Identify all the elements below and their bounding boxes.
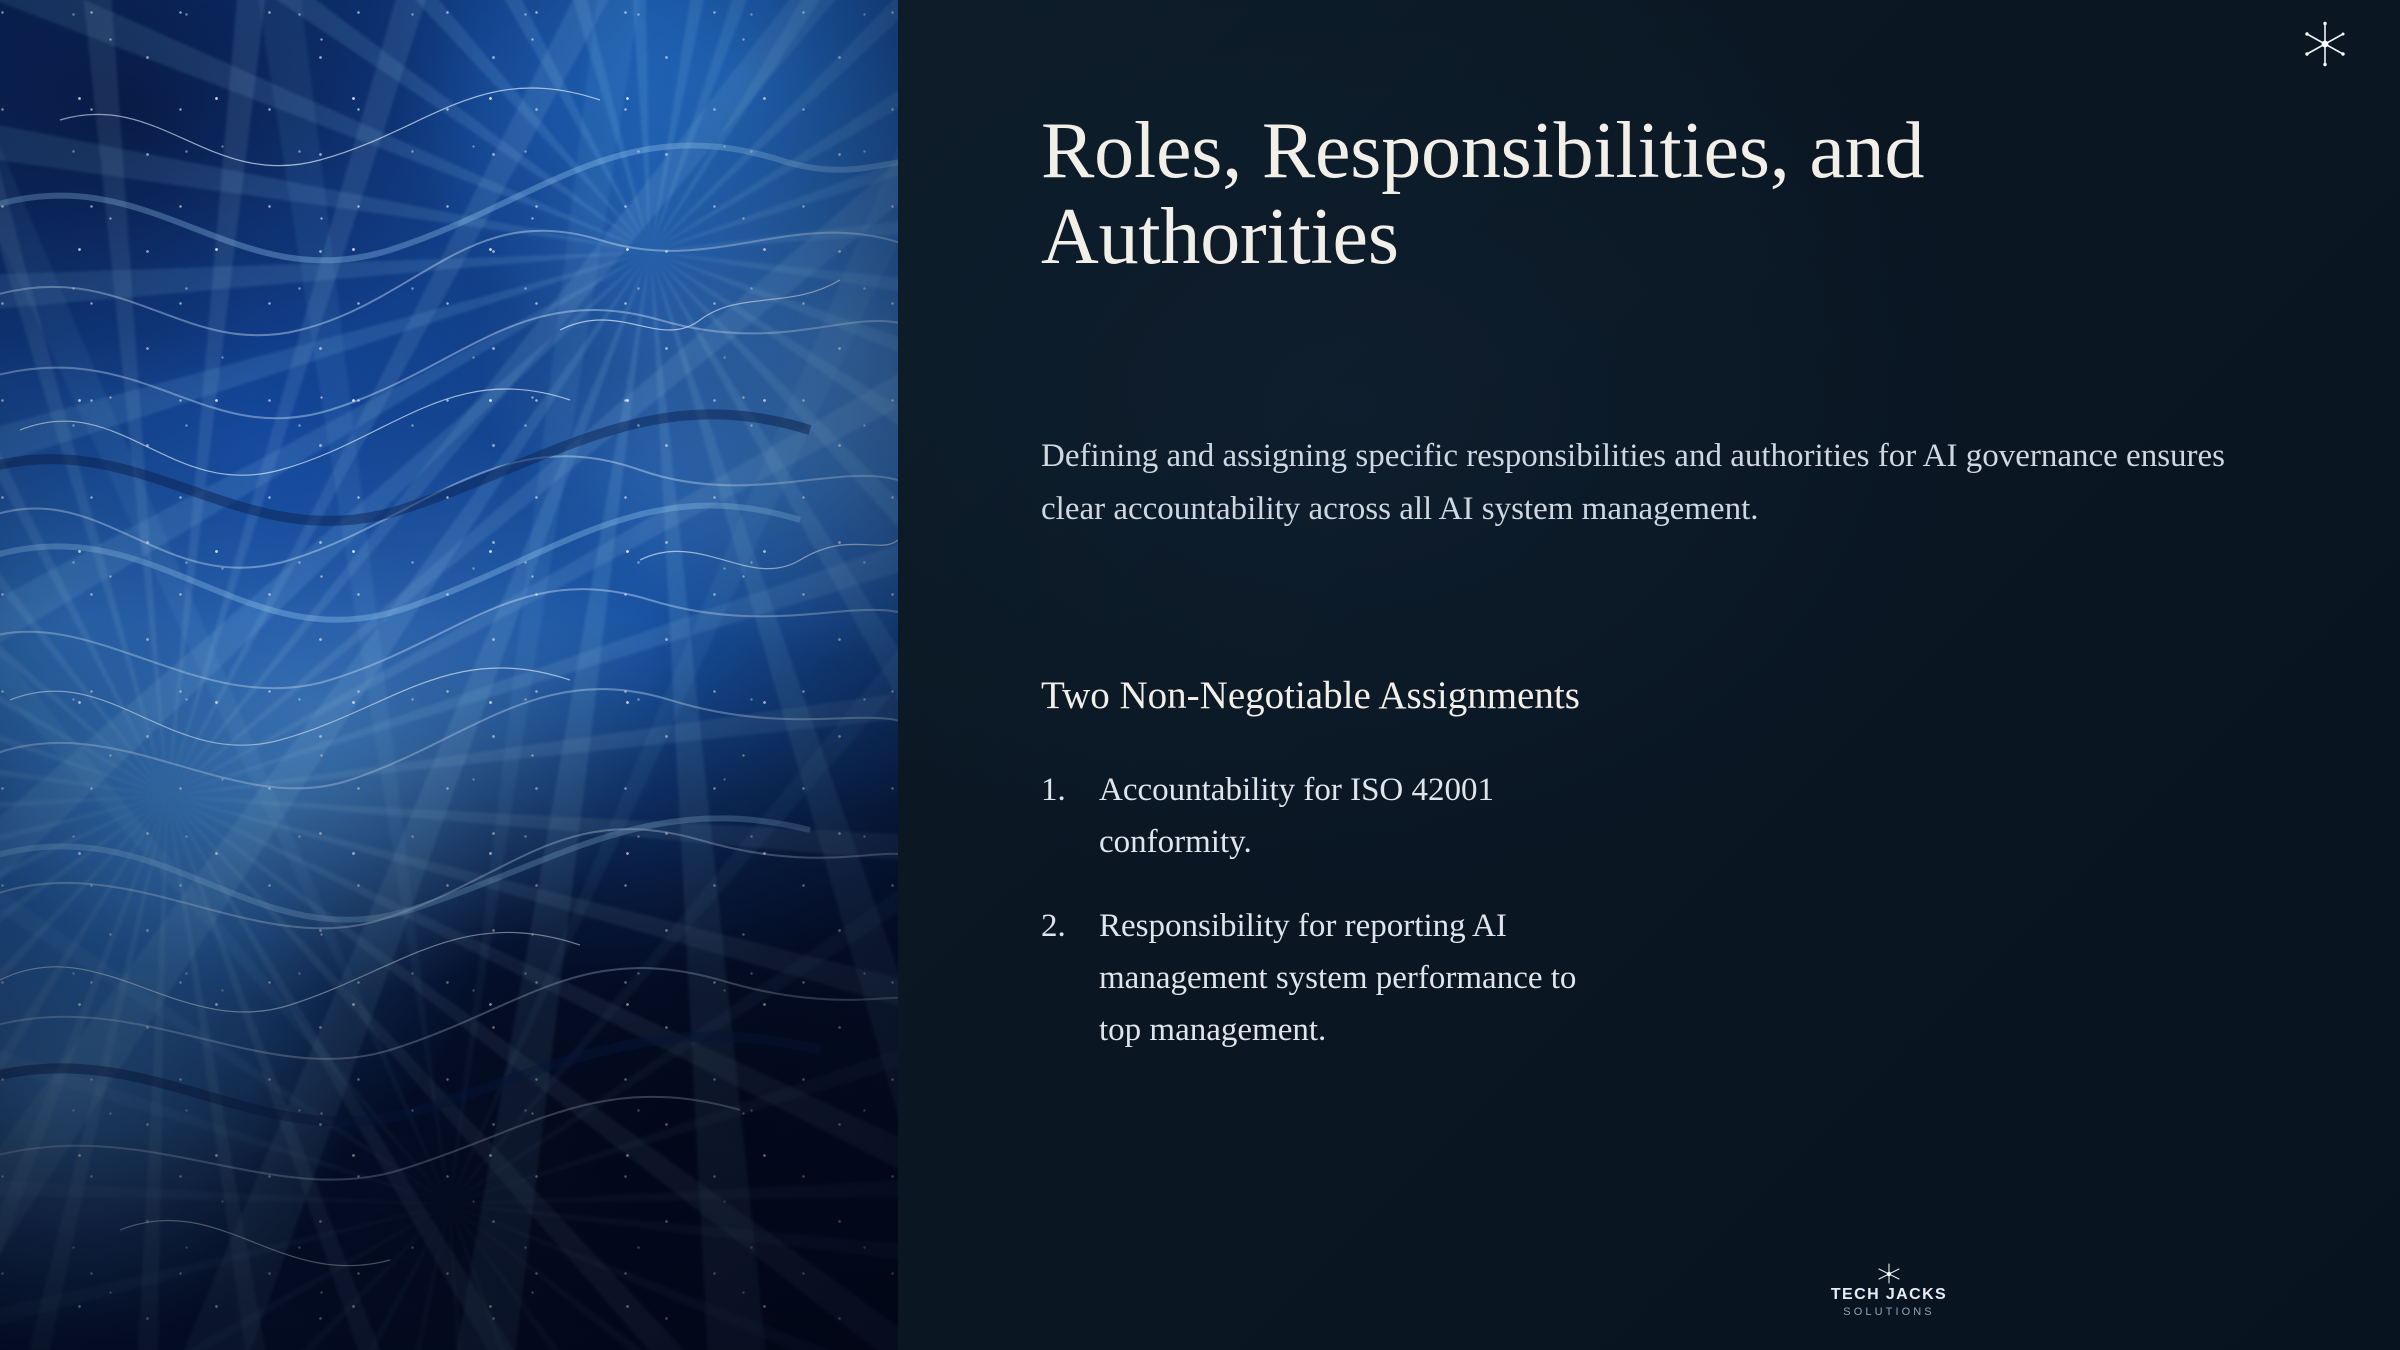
sparkle-icon [2299,18,2351,70]
list-item-marker: 2. [1041,900,1085,952]
brand-logo: TECH JACKS SOLUTIONS [1825,1262,1953,1319]
page-title: Roles, Responsibilities, and Authorities [1041,108,2221,281]
assignments-list: 1. Accountability for ISO 42001 conformi… [1041,764,1601,1057]
list-item-text: Accountability for ISO 42001 conformity. [1099,772,1494,860]
section-heading: Two Non-Negotiable Assignments [1041,672,1601,720]
list-item-marker: 1. [1041,764,1085,816]
marble-vignette [0,0,898,1350]
list-item: 1. Accountability for ISO 42001 conformi… [1041,764,1601,868]
logo-subtitle: SOLUTIONS [1825,1306,1953,1319]
assignments-block: Two Non-Negotiable Assignments 1. Accoun… [1041,672,1601,1056]
sparkle-star-icon [1874,1262,1904,1286]
decorative-marble-image [0,0,898,1350]
slide-root: Roles, Responsibilities, and Authorities… [0,0,2400,1350]
logo-name: TECH JACKS [1825,1287,1953,1304]
list-item: 2. Responsibility for reporting AI manag… [1041,900,1601,1056]
list-item-text: Responsibility for reporting AI manageme… [1099,908,1576,1048]
page-subtitle: Defining and assigning specific responsi… [1041,430,2231,537]
content-panel: Roles, Responsibilities, and Authorities… [898,0,2400,1350]
